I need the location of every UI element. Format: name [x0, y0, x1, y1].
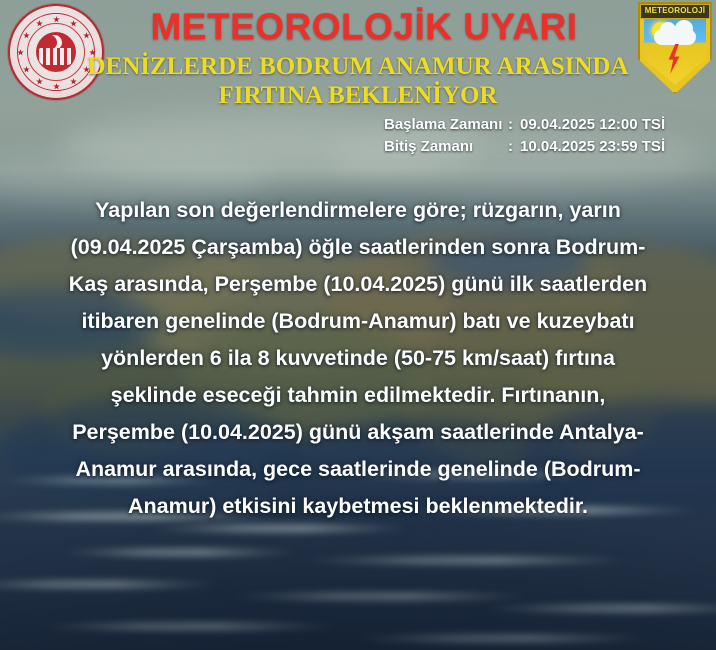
body-line: Anamur) etkisini kaybetmesi beklenmekted… — [6, 488, 710, 525]
body-line: Anamur arasında, gece saatlerinde geneli… — [6, 451, 710, 488]
start-time-value: 09.04.2025 12:00 TSİ — [520, 114, 665, 136]
body-line: Kaş arasında, Perşembe (10.04.2025) günü… — [6, 266, 710, 303]
meteoroloji-logo: METEOROLOJİ — [638, 2, 712, 94]
body-line: (09.04.2025 Çarşamba) öğle saatlerinden … — [6, 229, 710, 266]
meteorological-warning-poster: METEOROLOJİK UYARI DENİZLERDE BODRUM ANA… — [0, 0, 716, 650]
start-time-label: Başlama Zamanı — [384, 114, 508, 136]
badge-banner-label: METEOROLOJİ — [641, 5, 709, 16]
body-line: yönlerden 6 ila 8 kuvvetinde (50-75 km/s… — [6, 340, 710, 377]
body-line: Yapılan son değerlendirmelere göre; rüzg… — [6, 192, 710, 229]
end-time-row: Bitiş Zamanı : 10.04.2025 23:59 TSİ — [384, 136, 665, 158]
body-line: Perşembe (10.04.2025) günü akşam saatler… — [6, 414, 710, 451]
end-time-separator: : — [508, 136, 520, 158]
body-line: itibaren genelinde (Bodrum-Anamur) batı … — [6, 303, 710, 340]
end-time-label: Bitiş Zamanı — [384, 136, 508, 158]
validity-period: Başlama Zamanı : 09.04.2025 12:00 TSİ Bi… — [384, 114, 665, 158]
body-line: şeklinde eseceği tahmin edilmektedir. Fı… — [6, 377, 710, 414]
page-title: METEOROLOJİK UYARI — [104, 6, 624, 48]
start-time-row: Başlama Zamanı : 09.04.2025 12:00 TSİ — [384, 114, 665, 136]
warning-subtitle: DENİZLERDE BODRUM ANAMUR ARASINDA FIRTIN… — [46, 52, 670, 110]
badge-banner: METEOROLOJİ — [640, 4, 710, 19]
warning-subtitle-line-1: DENİZLERDE BODRUM ANAMUR ARASINDA — [46, 52, 670, 81]
cloud-icon — [654, 29, 696, 45]
start-time-separator: : — [508, 114, 520, 136]
warning-body-text: Yapılan son değerlendirmelere göre; rüzg… — [0, 192, 716, 525]
warning-subtitle-line-2: FIRTINA BEKLENİYOR — [46, 81, 670, 110]
end-time-value: 10.04.2025 23:59 TSİ — [520, 136, 665, 158]
